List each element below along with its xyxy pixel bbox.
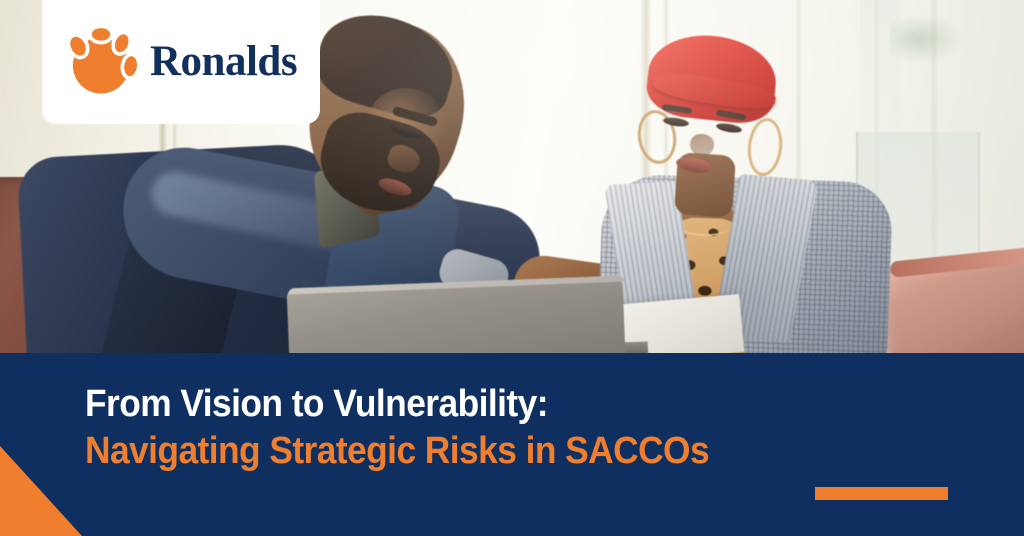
title-band: From Vision to Vulnerability: Navigating… — [0, 353, 1024, 536]
title-line-secondary: Navigating Strategic Risks in SACCOs — [85, 428, 709, 475]
window-foliage-glare — [890, 14, 964, 64]
title-line-primary: From Vision to Vulnerability: — [85, 381, 709, 428]
orange-corner-triangle — [0, 446, 82, 536]
glass-partition — [860, 0, 900, 150]
logo-card[interactable]: Ronalds — [42, 0, 320, 124]
orange-accent-bar — [815, 487, 948, 500]
ronalds-paw-mark-icon — [64, 24, 138, 98]
marketing-banner: Ronalds From Vision to Vulnerability: Na… — [0, 0, 1024, 536]
title-block: From Vision to Vulnerability: Navigating… — [85, 381, 756, 475]
brand-name: Ronalds — [150, 40, 297, 83]
